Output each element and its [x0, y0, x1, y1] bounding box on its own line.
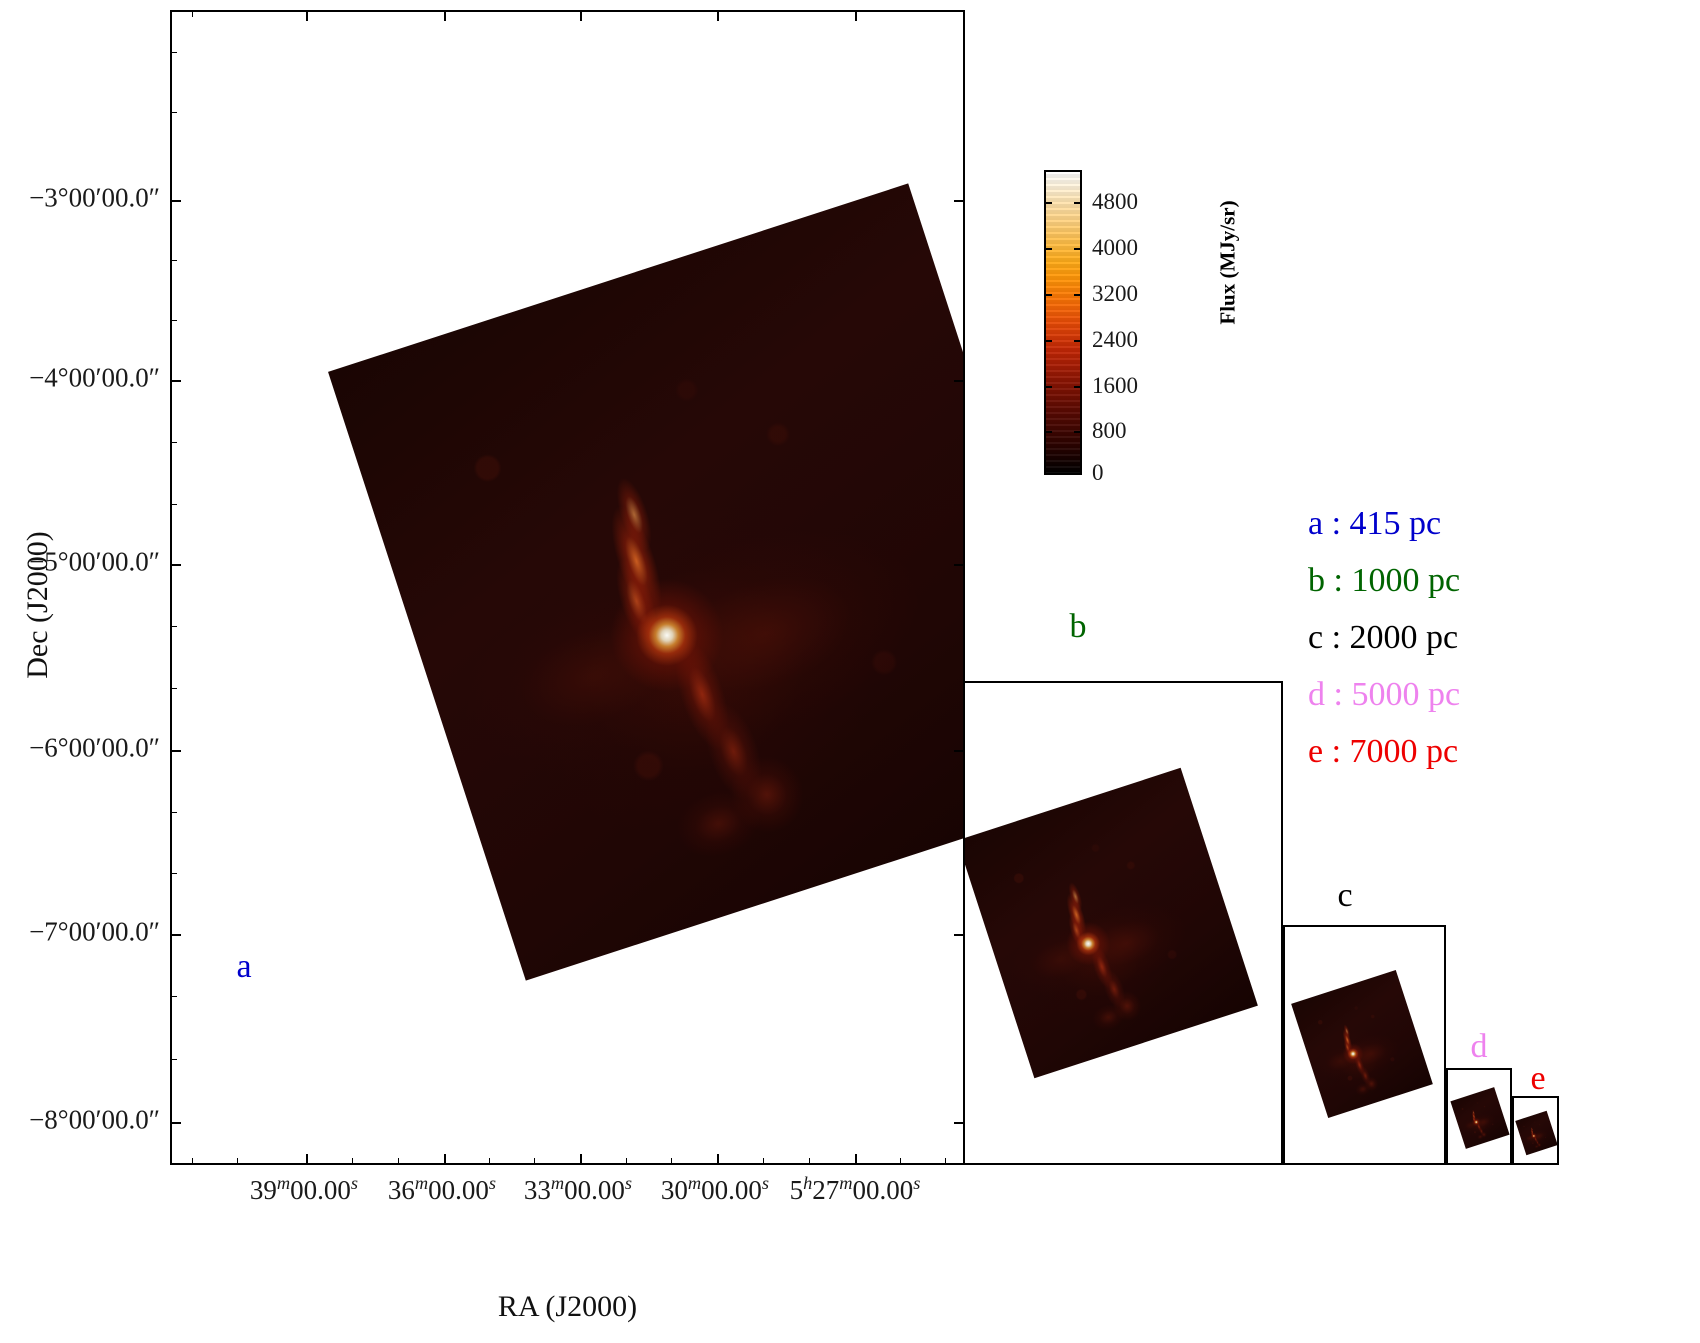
- xtick-major: [855, 1154, 857, 1163]
- ytick-minor: [172, 320, 177, 321]
- ytick-minor: [172, 112, 177, 113]
- panel-letter-c: c: [1337, 877, 1352, 915]
- ytick-label: −8°00′00.0″: [0, 1105, 160, 1136]
- xtick-label: 30m00.00s: [661, 1173, 769, 1206]
- xtick-minor: [945, 1158, 946, 1163]
- xtick-major: [306, 1154, 308, 1163]
- colorbar-tick: [1044, 431, 1052, 433]
- xtick-minor: [671, 1158, 672, 1163]
- panel-letter-d: d: [1471, 1028, 1488, 1066]
- xtick-minor: [626, 1158, 627, 1163]
- subpanel-b[interactable]: [963, 681, 1283, 1165]
- xtick-label: 33m00.00s: [524, 1173, 632, 1206]
- xtick-top-major: [717, 12, 719, 21]
- legend-entry-c: c : 2000 pc: [1308, 609, 1460, 666]
- xtick-minor: [763, 1158, 764, 1163]
- legend-entry-a: a : 415 pc: [1308, 495, 1460, 552]
- distance-legend: a : 415 pc b : 1000 pc c : 2000 pc d : 5…: [1308, 495, 1460, 780]
- panel-letter-e: e: [1530, 1060, 1545, 1098]
- ytick-right-major: [954, 564, 963, 566]
- colorbar-tick: [1074, 248, 1082, 250]
- colorbar-title: Flux (MJy/sr): [1216, 163, 1241, 363]
- xtick-major: [580, 1154, 582, 1163]
- subpanel-c[interactable]: [1283, 925, 1446, 1165]
- panel-letter-a: a: [236, 948, 251, 986]
- colorbar-tick-label: 2400: [1092, 327, 1138, 353]
- xtick-minor: [237, 1158, 238, 1163]
- xtick-minor: [900, 1158, 901, 1163]
- xtick-minor: [192, 1158, 193, 1163]
- xtick-minor: [489, 1158, 490, 1163]
- colorbar-tick: [1044, 340, 1052, 342]
- xtick-minor: [398, 1158, 399, 1163]
- ytick-minor: [172, 626, 177, 627]
- ytick-right-major: [954, 380, 963, 382]
- xtick-minor: [534, 1158, 535, 1163]
- ytick-major: [172, 934, 181, 936]
- ytick-label: −7°00′00.0″: [0, 917, 160, 948]
- ytick-major: [172, 200, 181, 202]
- legend-entry-d: d : 5000 pc: [1308, 666, 1460, 723]
- ytick-right-major: [954, 750, 963, 752]
- colorbar-tick-label: 1600: [1092, 373, 1138, 399]
- xtick-label: 39m00.00s: [250, 1173, 358, 1206]
- xtick-minor: [352, 1158, 353, 1163]
- nebula-image-d: [1457, 1093, 1503, 1143]
- ytick-major: [172, 1122, 181, 1124]
- ytick-minor: [172, 52, 177, 53]
- ytick-major: [172, 564, 181, 566]
- colorbar-tick-label: 800: [1092, 418, 1127, 444]
- colorbar[interactable]: 4800 4000 3200 2400 1600 800 0: [1044, 170, 1082, 475]
- subpanel-e[interactable]: [1512, 1096, 1559, 1165]
- ytick-minor: [172, 504, 177, 505]
- nebula-image-b: [990, 798, 1225, 1048]
- nebula-image-c: [1307, 984, 1417, 1104]
- nebula-image-a: [412, 262, 965, 902]
- ytick-minor: [172, 812, 177, 813]
- ytick-minor: [172, 1059, 177, 1060]
- x-axis-title: RA (J2000): [170, 1290, 965, 1324]
- colorbar-tick: [1044, 386, 1052, 388]
- ytick-minor: [172, 688, 177, 689]
- xtick-label: 36m00.00s: [388, 1173, 496, 1206]
- xtick-major: [717, 1154, 719, 1163]
- xtick-major: [444, 1154, 446, 1163]
- colorbar-tick-label: 3200: [1092, 281, 1138, 307]
- xtick-minor: [809, 1158, 810, 1163]
- legend-entry-e: e : 7000 pc: [1308, 723, 1460, 780]
- legend-entry-b: b : 1000 pc: [1308, 552, 1460, 609]
- colorbar-tick: [1044, 294, 1052, 296]
- ytick-right-major: [954, 934, 963, 936]
- xtick-top-major: [855, 12, 857, 21]
- y-axis-title: Dec (J2000): [21, 305, 55, 905]
- colorbar-tick: [1074, 294, 1082, 296]
- figure-canvas: a: [0, 0, 1700, 1343]
- colorbar-tick: [1074, 340, 1082, 342]
- ytick-minor: [172, 873, 177, 874]
- colorbar-contour-stripes: [1046, 172, 1080, 473]
- xtick-top-minor: [192, 12, 193, 17]
- xtick-top-major: [444, 12, 446, 21]
- colorbar-tick: [1044, 248, 1052, 250]
- colorbar-tick: [1074, 431, 1082, 433]
- ytick-minor: [172, 996, 177, 997]
- ytick-minor: [172, 442, 177, 443]
- colorbar-tick-label: 4000: [1092, 235, 1138, 261]
- ytick-major: [172, 380, 181, 382]
- colorbar-tick-label: 0: [1092, 460, 1104, 486]
- ytick-minor: [172, 260, 177, 261]
- colorbar-gradient: [1044, 170, 1082, 475]
- ytick-right-major: [954, 1122, 963, 1124]
- nebula-image-e: [1520, 1115, 1553, 1151]
- colorbar-tick-label: 4800: [1092, 189, 1138, 215]
- ytick-major: [172, 750, 181, 752]
- colorbar-tick: [1044, 202, 1052, 204]
- xtick-top-major: [580, 12, 582, 21]
- ytick-label: −3°00′00.0″: [0, 183, 160, 214]
- colorbar-tick: [1074, 202, 1082, 204]
- xtick-label: 5h27m00.00s: [790, 1173, 921, 1206]
- main-sky-image-axes[interactable]: a: [170, 10, 965, 1165]
- colorbar-tick: [1074, 386, 1082, 388]
- ytick-right-major: [954, 200, 963, 202]
- subpanel-d[interactable]: [1446, 1068, 1512, 1165]
- xtick-top-major: [306, 12, 308, 21]
- panel-letter-b: b: [1070, 608, 1087, 646]
